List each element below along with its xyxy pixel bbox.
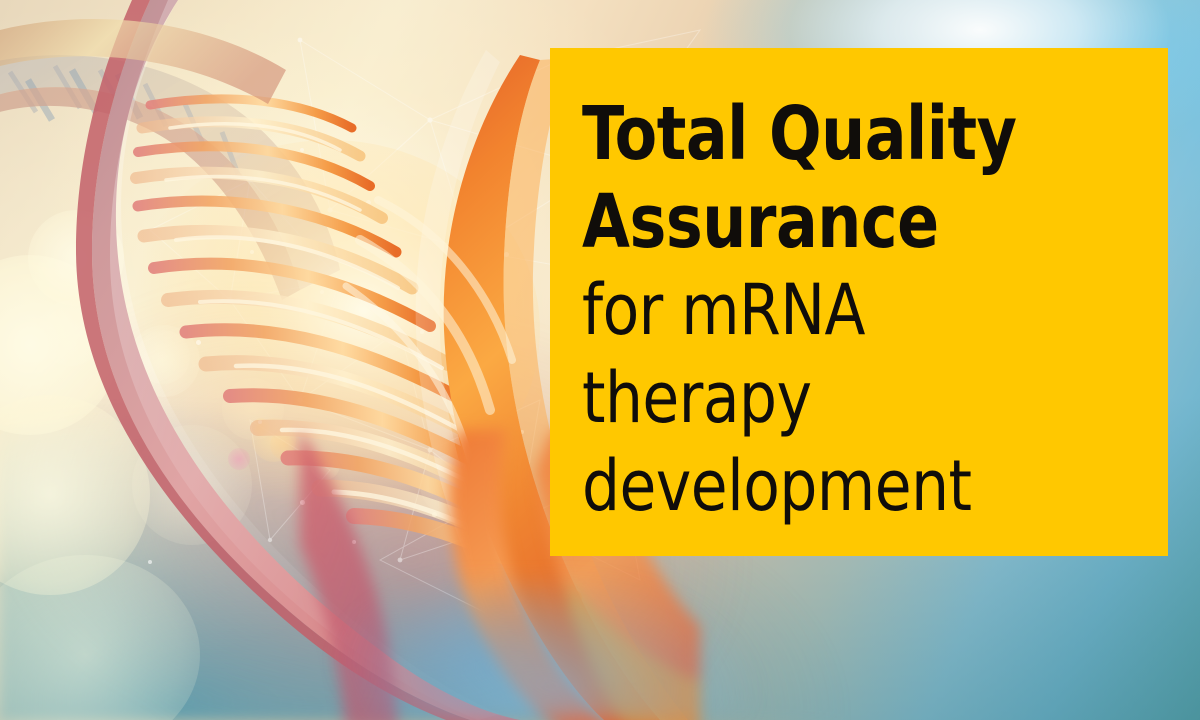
bokeh-circle — [228, 448, 250, 470]
sparkle-particle — [520, 430, 524, 434]
headline-line-5: development — [582, 442, 1139, 530]
bokeh-circle — [310, 450, 340, 480]
headline-callout-box: Total Quality Assurance for mRNA therapy… — [550, 48, 1168, 556]
bokeh-circle — [252, 418, 270, 436]
bokeh-circle — [0, 255, 120, 435]
sparkle-particle — [300, 500, 305, 505]
bokeh-circle — [298, 285, 372, 359]
bokeh-circle — [28, 210, 124, 306]
sparkle-particle — [196, 340, 201, 345]
bokeh-circle — [222, 378, 284, 440]
bokeh-circle — [420, 455, 480, 515]
sparkle-particle — [250, 250, 254, 254]
bokeh-circle — [252, 418, 296, 462]
bokeh-circle — [38, 300, 104, 366]
sparkle-particle — [470, 380, 476, 386]
poster-canvas: Total Quality Assurance for mRNA therapy… — [0, 0, 1200, 720]
headline-line-3: for mRNA — [582, 266, 1139, 354]
bokeh-circle — [0, 555, 200, 720]
sparkle-particle — [148, 560, 152, 564]
sparkle-particle — [366, 200, 371, 205]
sparkle-particle — [420, 330, 424, 334]
headline-line-1: Total Quality — [582, 90, 1127, 178]
sparkle-particle — [504, 252, 509, 257]
sparkle-particle — [258, 420, 262, 424]
sparkle-particle — [432, 512, 437, 517]
sparkle-particle — [186, 485, 191, 490]
headline-line-2: Assurance — [582, 178, 1127, 266]
bokeh-circle — [270, 430, 300, 460]
sparkle-particle — [352, 540, 356, 544]
sparkle-particle — [300, 148, 304, 152]
bokeh-circle — [0, 395, 150, 595]
headline-line-4: therapy — [582, 354, 1139, 442]
sparkle-particle — [480, 470, 486, 476]
bokeh-circle — [132, 425, 252, 545]
bokeh-circle — [136, 330, 190, 384]
sparkle-particle — [320, 290, 324, 294]
bokeh-circle — [128, 325, 200, 397]
